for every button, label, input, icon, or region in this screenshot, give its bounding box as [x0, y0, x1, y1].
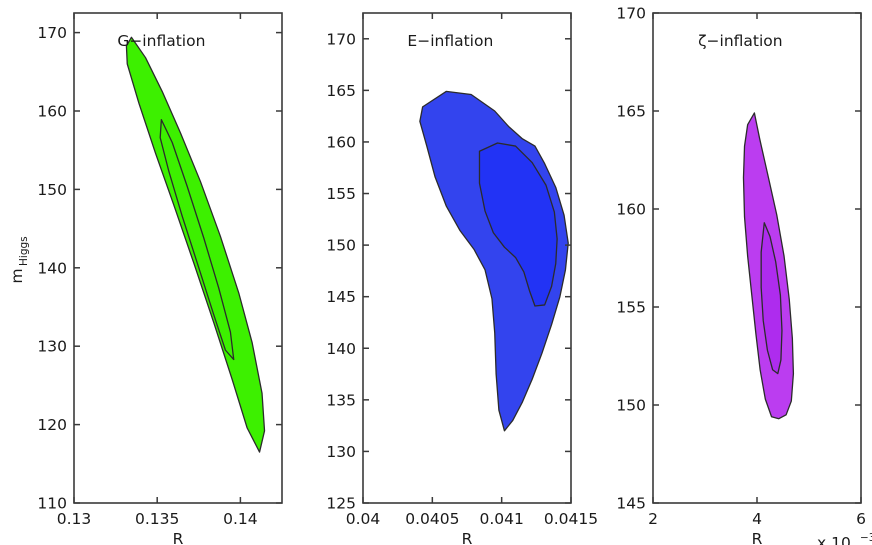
xtick-label-4: 4 [752, 510, 762, 528]
contour-figure: 1101201301401501601700.130.1350.14RG−inf… [0, 0, 872, 545]
ytick-label-150: 150 [326, 237, 356, 255]
ytick-label-150: 150 [616, 397, 646, 415]
xtick-label-0.04: 0.04 [346, 510, 381, 528]
xaxis-label-G-inflation: R [173, 530, 184, 545]
ytick-label-135: 135 [326, 391, 356, 409]
xtick-label-0.0415: 0.0415 [544, 510, 598, 528]
ytick-label-130: 130 [326, 443, 356, 461]
yaxis-label-subscript: Higgs [18, 236, 30, 266]
panel-zeta-inflation: 145150155160165170246Rζ−inflationx 10−3 [616, 5, 872, 545]
xtick-label-2: 2 [648, 510, 658, 528]
ytick-label-170: 170 [616, 5, 646, 23]
ytick-label-160: 160 [326, 133, 356, 151]
ytick-label-140: 140 [37, 259, 67, 277]
ytick-label-120: 120 [37, 416, 67, 434]
panel-title-zeta-inflation: ζ−inflation [698, 32, 783, 50]
xaxis-label-E-inflation: R [462, 530, 473, 545]
ytick-label-165: 165 [326, 82, 356, 100]
xtick-label-0.13: 0.13 [57, 510, 92, 528]
ytick-label-160: 160 [37, 103, 67, 121]
ytick-label-170: 170 [37, 24, 67, 42]
xtick-label-0.041: 0.041 [479, 510, 523, 528]
xaxis-label-zeta-inflation: R [752, 530, 763, 545]
ytick-label-160: 160 [616, 201, 646, 219]
ytick-label-155: 155 [616, 299, 646, 317]
panel-E-inflation: 1251301351401451501551601651700.040.0405… [326, 13, 598, 545]
xtick-label-0.14: 0.14 [223, 510, 258, 528]
panel-G-inflation: 1101201301401501601700.130.1350.14RG−inf… [8, 13, 282, 545]
ytick-label-155: 155 [326, 185, 356, 203]
panel-title-E-inflation: E−inflation [407, 32, 493, 50]
xtick-label-6: 6 [856, 510, 866, 528]
yaxis-label-group: mHiggs [8, 236, 30, 283]
ytick-label-165: 165 [616, 103, 646, 121]
ytick-label-145: 145 [616, 495, 646, 513]
panel-title-G-inflation: G−inflation [117, 32, 205, 50]
yaxis-label-main: m [8, 268, 26, 283]
ytick-label-140: 140 [326, 340, 356, 358]
ytick-label-150: 150 [37, 181, 67, 199]
xtick-label-0.135: 0.135 [135, 510, 179, 528]
ytick-label-170: 170 [326, 30, 356, 48]
ytick-label-130: 130 [37, 338, 67, 356]
figure-svg-wrapper: 1101201301401501601700.130.1350.14RG−inf… [0, 0, 872, 545]
xaxis-exponent-prefix: x 10 [817, 534, 851, 545]
xaxis-exponent-value: −3 [860, 532, 872, 544]
figure-canvas: 1101201301401501601700.130.1350.14RG−inf… [0, 0, 872, 545]
ytick-label-145: 145 [326, 288, 356, 306]
xtick-label-0.0405: 0.0405 [405, 510, 459, 528]
